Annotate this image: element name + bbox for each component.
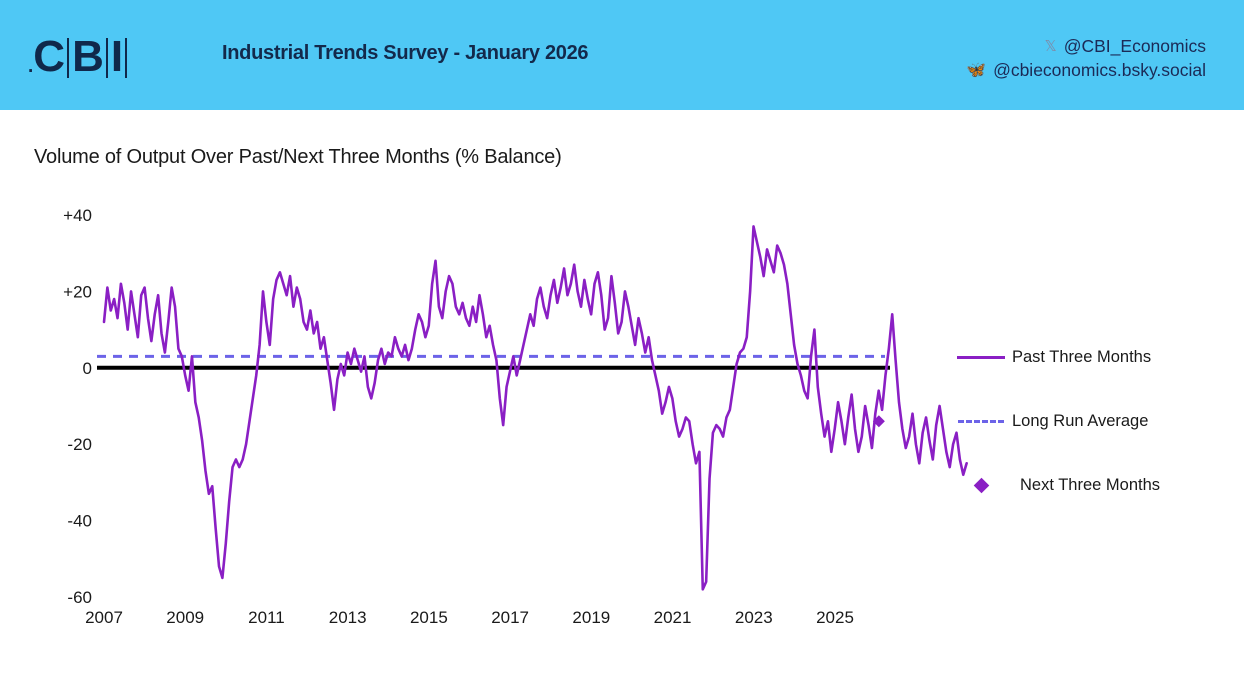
x-axis-tick-6: 2019 — [572, 608, 610, 627]
legend-label-next-three-months: Next Three Months — [1010, 476, 1160, 495]
legend-label-long-run-average: Long Run Average — [1010, 412, 1148, 431]
y-axis-tick-0: +40 — [63, 206, 92, 225]
x-axis-tick-4: 2015 — [410, 608, 448, 627]
series-past-three-months — [104, 226, 967, 589]
legend-item-past-three-months[interactable]: Past Three Months — [952, 325, 1232, 389]
legend-item-next-three-months[interactable]: Next Three Months — [952, 453, 1232, 517]
chart-legend: Past Three Months Long Run Average Next … — [952, 325, 1232, 517]
x-axis-tick-9: 2025 — [816, 608, 854, 627]
y-axis-tick-3: -20 — [67, 435, 92, 454]
legend-swatch-solid-line — [952, 356, 1010, 359]
x-axis-tick-2: 2011 — [248, 608, 285, 627]
x-axis-tick-5: 2017 — [491, 608, 529, 627]
x-axis-tick-7: 2021 — [654, 608, 692, 627]
x-axis-tick-1: 2009 — [166, 608, 204, 627]
y-axis-tick-4: -40 — [67, 512, 92, 531]
legend-swatch-diamond — [952, 480, 1010, 491]
y-axis-tick-1: +20 — [63, 282, 92, 301]
y-axis-tick-5: -60 — [67, 588, 92, 607]
legend-swatch-dashed-line — [952, 420, 1010, 423]
legend-item-long-run-average[interactable]: Long Run Average — [952, 389, 1232, 453]
legend-label-past-three-months: Past Three Months — [1010, 348, 1151, 367]
x-axis-tick-8: 2023 — [735, 608, 773, 627]
y-axis-tick-2: 0 — [83, 359, 92, 378]
x-axis-tick-3: 2013 — [329, 608, 367, 627]
y-axis-tick-labels: +40+200-20-40-60 — [63, 206, 92, 607]
x-axis-tick-labels: 2007200920112013201520172019202120232025 — [85, 608, 854, 627]
x-axis-tick-0: 2007 — [85, 608, 123, 627]
